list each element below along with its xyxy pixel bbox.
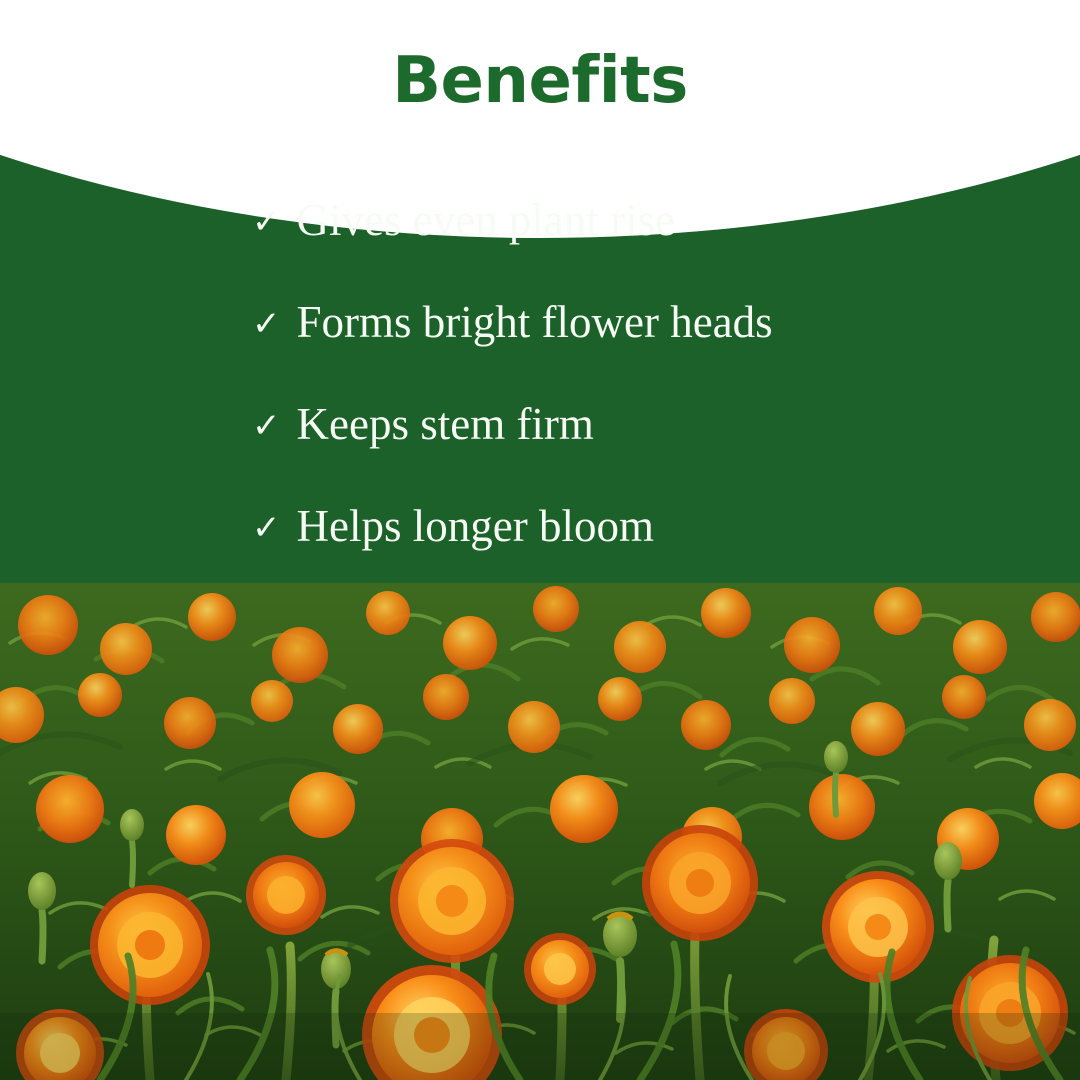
list-item: ✓ Helps longer bloom [252,504,1080,606]
benefit-label: Helps longer bloom [297,504,654,549]
marigold-field-illustration [0,583,1080,1080]
benefit-label: Forms bright flower heads [297,300,773,345]
title-area: Benefits [0,0,1080,150]
page-title: Benefits [392,37,688,113]
benefit-label: Keeps stem firm [297,402,594,447]
list-item: ✓ Forms bright flower heads [252,300,1080,402]
list-item: ✓ Gives even plant rise [252,198,1080,300]
check-icon: ✓ [252,409,281,443]
benefit-label: Gives even plant rise [297,198,676,243]
check-icon: ✓ [252,205,281,239]
check-icon: ✓ [252,511,281,545]
benefits-list: ✓ Gives even plant rise ✓ Forms bright f… [0,140,1080,583]
marigold-field-photo [0,583,1080,1080]
benefits-poster: Benefits ✓ Gives even plant rise ✓ Forms… [0,0,1080,1080]
check-icon: ✓ [252,307,281,341]
list-item: ✓ Keeps stem firm [252,402,1080,504]
